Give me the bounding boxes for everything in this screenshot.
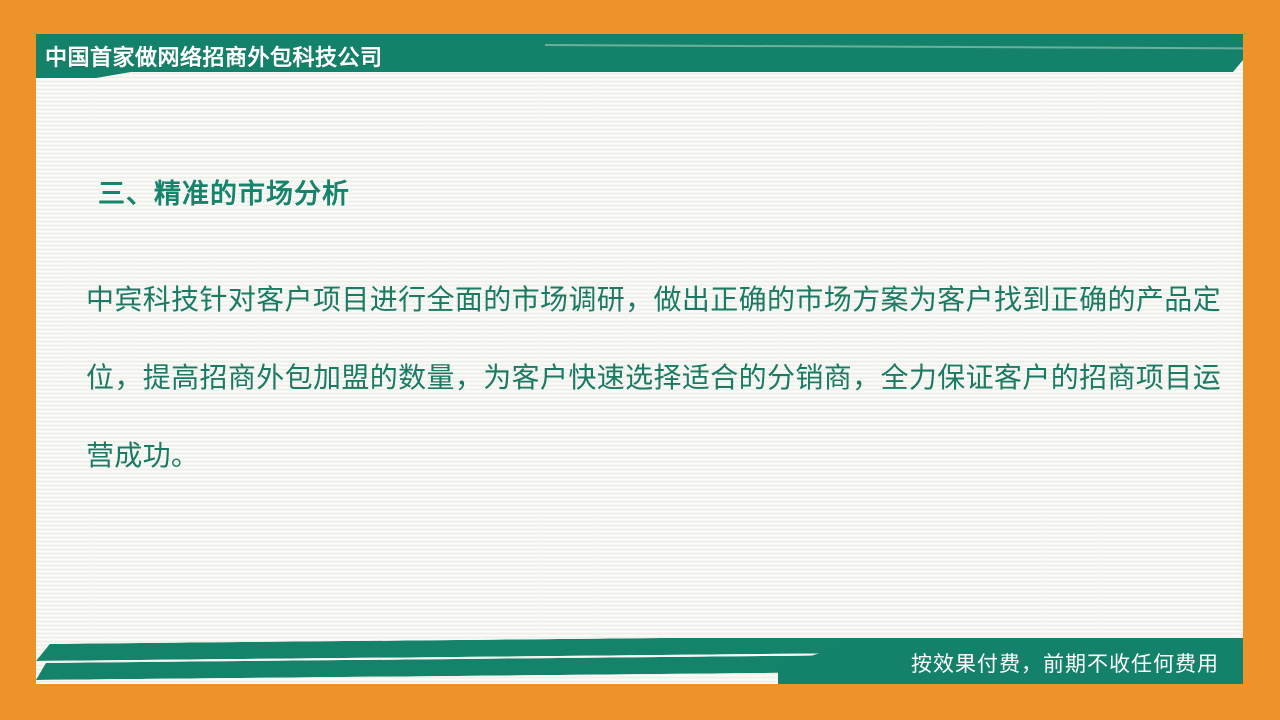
section-heading: 三、精准的市场分析 — [98, 172, 350, 211]
slide-canvas: 三、精准的市场分析 中宾科技针对客户项目进行全面的市场调研，做出正确的市场方案为… — [36, 34, 1243, 684]
footer-slogan: 按效果付费，前期不收任何费用 — [911, 642, 1219, 684]
header-banner: 中国首家做网络招商外包科技公司 — [36, 34, 1243, 78]
header-banner-text: 中国首家做网络招商外包科技公司 — [45, 34, 383, 78]
footer-banner: 按效果付费，前期不收任何费用 — [36, 638, 1243, 684]
presentation-slide: 三、精准的市场分析 中宾科技针对客户项目进行全面的市场调研，做出正确的市场方案为… — [0, 0, 1280, 720]
body-text-block: 中宾科技针对客户项目进行全面的市场调研，做出正确的市场方案为客户找到正确的产品定… — [86, 262, 1221, 496]
body-paragraph: 中宾科技针对客户项目进行全面的市场调研，做出正确的市场方案为客户找到正确的产品定… — [86, 262, 1221, 496]
